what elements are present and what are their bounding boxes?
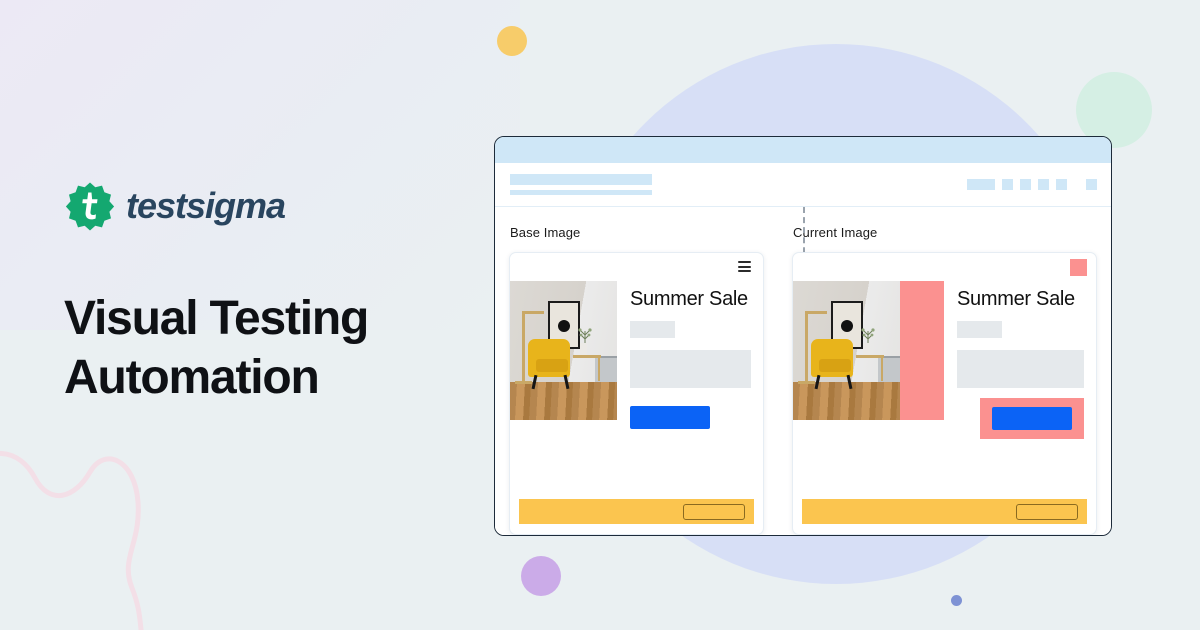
- text-placeholder-small-current: [957, 321, 1002, 338]
- pink-wave-line-shape: [0, 420, 220, 630]
- mock-body-base: Summer Sale: [510, 281, 763, 499]
- purple-circle-shape: [521, 556, 561, 596]
- footer-outline-button-base[interactable]: [683, 504, 745, 520]
- pane-base-image: Base Image: [495, 207, 778, 535]
- comparison-area: Base Image: [495, 207, 1111, 535]
- toolbar-wide-icon[interactable]: [967, 179, 995, 190]
- pane-label-base: Base Image: [510, 226, 764, 239]
- mock-title-base: Summer Sale: [630, 289, 751, 309]
- browser-window: Base Image: [494, 136, 1112, 536]
- yellow-dot-shape: [497, 26, 527, 56]
- promo-footer-banner-base: [519, 499, 754, 524]
- toolbar-square-icon-4[interactable]: [1056, 179, 1067, 190]
- url-bar-placeholder[interactable]: [510, 174, 652, 195]
- footer-outline-button-current[interactable]: [1016, 504, 1078, 520]
- testsigma-gear-logo-icon: [64, 180, 116, 232]
- text-placeholder-small-base: [630, 321, 675, 338]
- url-bar-secondary: [510, 190, 652, 195]
- diff-highlight-strip: [900, 281, 944, 420]
- browser-toolbar: [495, 163, 1111, 207]
- hero-image-base: [510, 281, 617, 420]
- text-placeholder-large-current: [957, 350, 1084, 388]
- diff-highlight-around-cta: [980, 398, 1084, 439]
- cta-row-base: [630, 406, 751, 429]
- browser-titlebar: [495, 137, 1111, 163]
- brand-name: testsigma: [126, 185, 285, 227]
- hamburger-icon[interactable]: [738, 261, 751, 272]
- mock-body-current: Summer Sale: [793, 281, 1096, 499]
- primary-cta-button-current[interactable]: [992, 407, 1072, 430]
- hero-wrap-base: [510, 281, 617, 499]
- diff-chip-icon: [1070, 259, 1087, 276]
- headline-line-1: Visual Testing: [64, 290, 484, 349]
- url-bar-primary: [510, 174, 652, 185]
- mock-title-current: Summer Sale: [957, 289, 1084, 309]
- hero-wrap-current: [793, 281, 944, 499]
- page-title: Visual Testing Automation: [64, 290, 484, 407]
- toolbar-square-icon-5[interactable]: [1086, 179, 1097, 190]
- primary-cta-button-base[interactable]: [630, 406, 710, 429]
- blue-dot-shape: [951, 595, 962, 606]
- pane-current-image: Current Image: [778, 207, 1111, 535]
- promo-footer-banner-current: [802, 499, 1087, 524]
- pane-label-current: Current Image: [793, 226, 1097, 239]
- mock-header-base: [510, 253, 763, 281]
- toolbar-icon-group: [967, 179, 1097, 190]
- left-gradient-wash: [0, 0, 520, 330]
- mock-content-current: Summer Sale: [944, 281, 1096, 499]
- toolbar-square-icon-2[interactable]: [1020, 179, 1031, 190]
- mock-header-current: [793, 253, 1096, 281]
- brand-lockup: testsigma: [64, 180, 285, 232]
- headline-line-2: Automation: [64, 349, 484, 408]
- toolbar-square-icon-3[interactable]: [1038, 179, 1049, 190]
- toolbar-square-icon-1[interactable]: [1002, 179, 1013, 190]
- mock-page-current: Summer Sale: [792, 252, 1097, 535]
- mock-page-base: Summer Sale: [509, 252, 764, 535]
- hero-image-current: [793, 281, 900, 420]
- text-placeholder-large-base: [630, 350, 751, 388]
- mock-content-base: Summer Sale: [617, 281, 763, 499]
